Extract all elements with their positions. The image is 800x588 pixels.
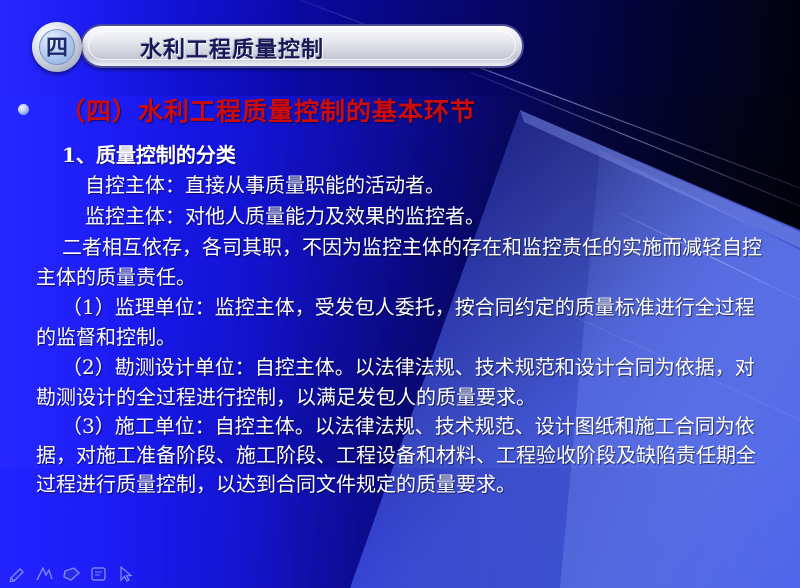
subsection-title: 1、质量控制的分类 [62,140,800,170]
slide-title-bar: 水利工程质量控制 四 [32,22,524,72]
definition-supervisory-control: 监控主体：对他人质量能力及效果的监控者。 [85,201,800,232]
section-number-text: 四 [40,36,74,62]
slide-title: 水利工程质量控制 [140,32,324,64]
section-number-badge-core: 四 [39,29,75,65]
presentation-slide: 水利工程质量控制 四 （四）水利工程质量控制的基本环节 1、质量控制的分类 自控… [0,0,800,588]
slide-show-icon[interactable] [62,566,81,582]
body-text-block: 1、质量控制的分类 自控主体：直接从事质量职能的活动者。 监控主体：对他人质量能… [0,140,800,499]
slideshow-toolbar[interactable] [8,566,135,582]
paragraph-intro: 二者相互依存，各司其职，不因为监控主体的存在和监控责任的实施而减轻自控主体的质量… [36,232,774,292]
ink-pointer-icon[interactable] [35,566,54,582]
bullet-icon [18,104,29,115]
paragraph-item-1: （1）监理单位：监控主体，受发包人委托，按合同约定的质量标准进行全过程的监督和控… [36,292,774,352]
section-heading: （四）水利工程质量控制的基本环节 [60,92,476,128]
heading-row: （四）水利工程质量控制的基本环节 [18,92,800,130]
definition-self-control: 自控主体：直接从事质量职能的活动者。 [85,170,800,201]
notes-icon[interactable] [89,566,108,582]
paragraph-item-3: （3）施工单位：自控主体。以法律法规、技术规范、设计图纸和施工合同为依据，对施工… [36,412,774,499]
paragraph-item-2: （2）勘测设计单位：自控主体。以法律法规、技术规范和设计合同为依据，对勘测设计的… [36,352,774,412]
section-number-badge: 四 [32,22,82,72]
pen-icon[interactable] [8,566,27,582]
slide-content: （四）水利工程质量控制的基本环节 1、质量控制的分类 自控主体：直接从事质量职能… [0,92,800,499]
cursor-arrow-icon[interactable] [116,566,135,582]
